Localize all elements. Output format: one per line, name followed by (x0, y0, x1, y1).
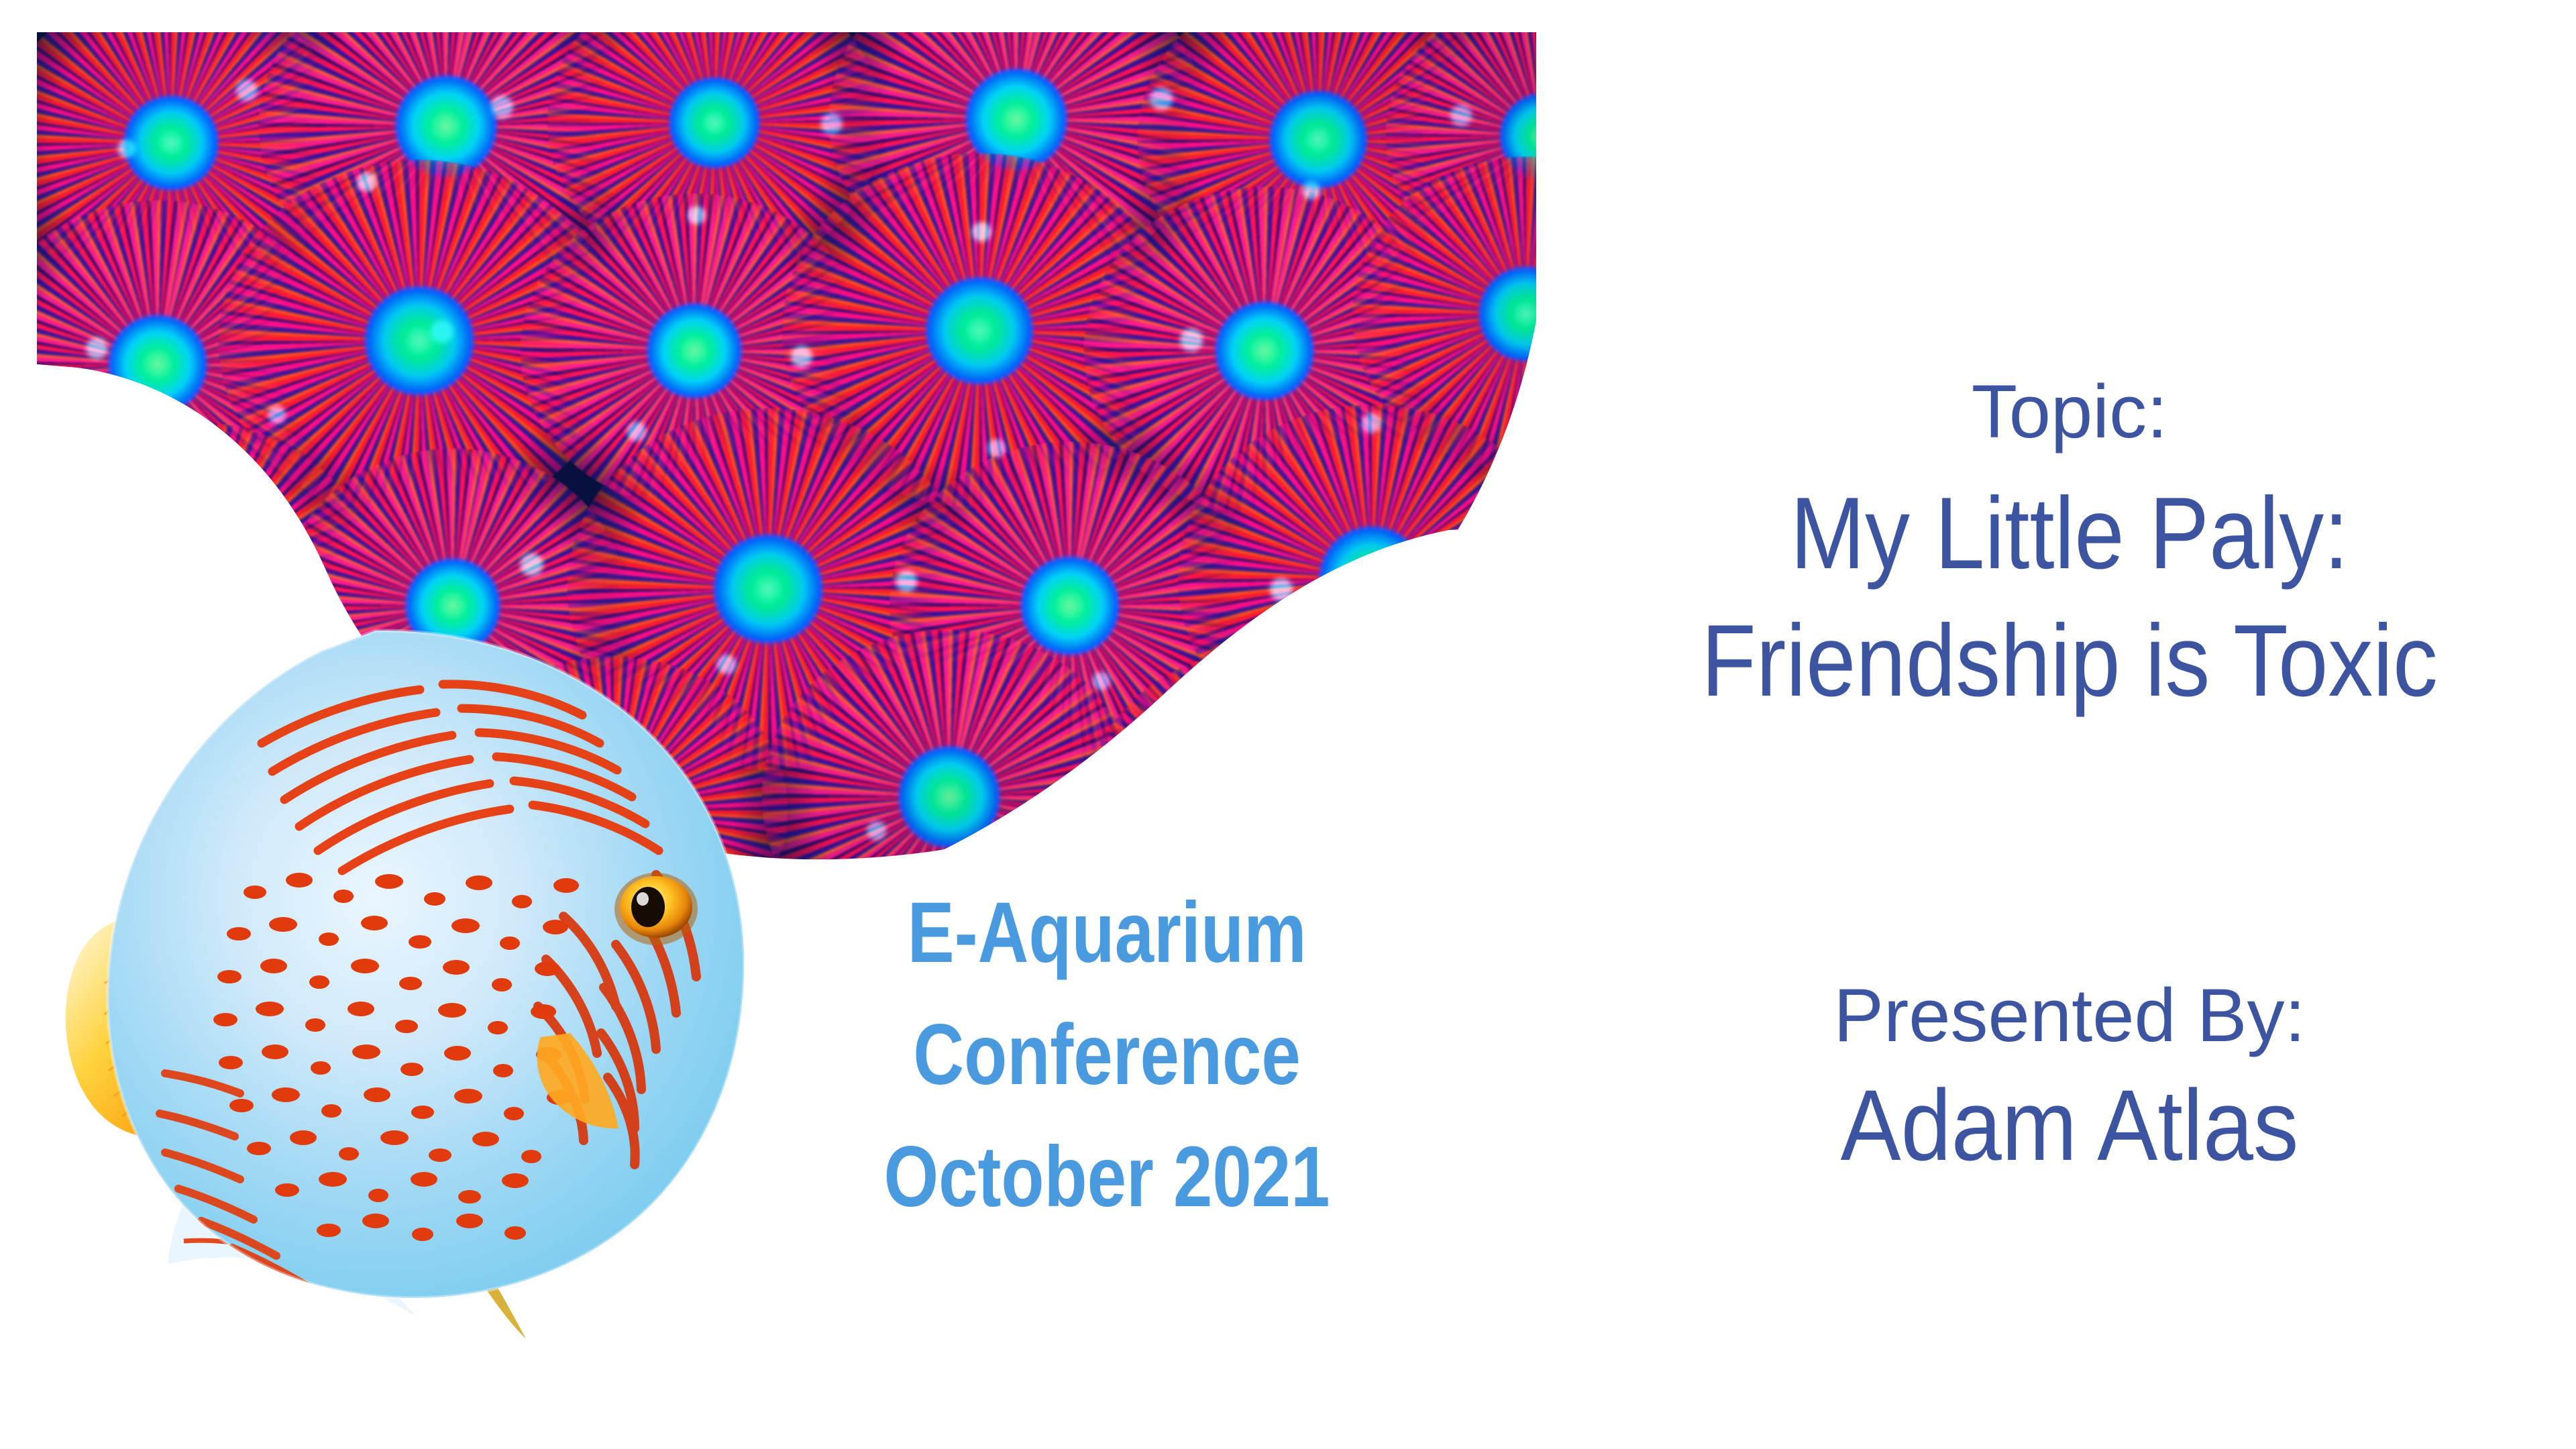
image-collage: E-Aquarium Conference October 2021 (0, 0, 1556, 1382)
text-column: Topic: My Little Paly: Friendship is Tox… (1563, 0, 2576, 1449)
topic-title: My Little Paly: Friendship is Toxic (1624, 470, 2516, 724)
topic-label: Topic: (1563, 372, 2576, 451)
conference-line-2: Conference (815, 994, 1398, 1116)
conference-block: E-Aquarium Conference October 2021 (815, 872, 1398, 1238)
presenter-name: Adam Atlas (1614, 1070, 2526, 1181)
topic-title-line-2: Friendship is Toxic (1624, 597, 2516, 724)
title-slide: E-Aquarium Conference October 2021 Topic… (0, 0, 2576, 1449)
fish-eye (614, 873, 698, 945)
topic-title-line-1: My Little Paly: (1624, 470, 2516, 597)
conference-line-3: October 2021 (815, 1116, 1398, 1238)
fish-body (107, 631, 744, 1298)
presented-by-label: Presented By: (1563, 976, 2576, 1055)
conference-line-1: E-Aquarium (815, 872, 1398, 994)
discus-fish (40, 604, 758, 1348)
